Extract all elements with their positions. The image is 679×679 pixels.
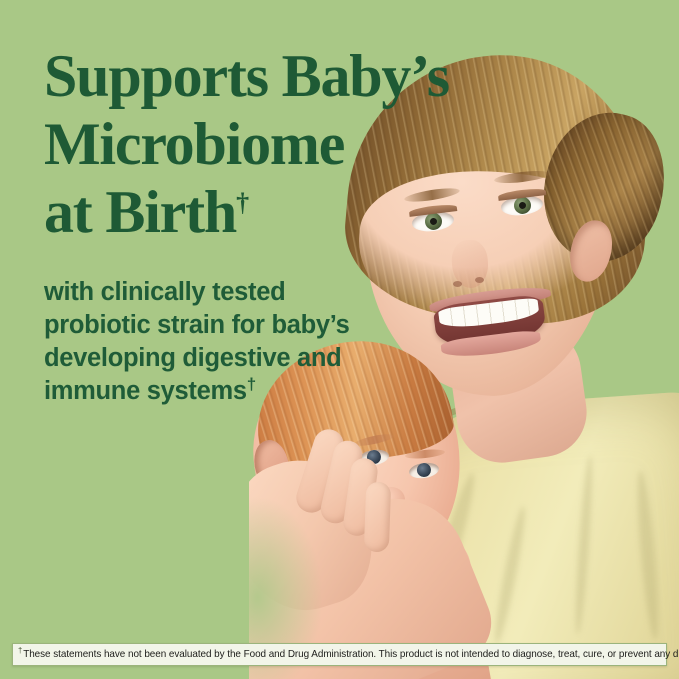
headline-line-2: Microbiome [44,111,344,177]
subheadline: with clinically tested probiotic strain … [44,276,404,408]
nostril [453,281,462,287]
headline: Supports Baby’s Microbiome at Birth† [44,42,604,246]
headline-dagger-icon: † [236,188,249,217]
subheadline-line-2: probiotic strain for baby’s [44,311,350,339]
headline-line-3: at Birth [44,179,236,245]
finger [364,482,391,553]
subheadline-line-4: immune systems [44,377,247,405]
subheadline-dagger-icon: † [247,375,256,394]
disclaimer-body: These statements have not been evaluated… [23,649,679,660]
subheadline-line-3: developing digestive and [44,344,341,372]
fda-disclaimer-text: †These statements have not been evaluate… [18,649,679,660]
iris [416,462,432,478]
subheadline-line-1: with clinically tested [44,278,285,306]
disclaimer-dagger-icon: † [18,646,22,655]
nostril [475,277,484,283]
product-claim-card: Supports Baby’s Microbiome at Birth† wit… [0,0,679,679]
headline-line-1: Supports Baby’s [44,43,449,109]
fda-disclaimer-bar: †These statements have not been evaluate… [12,643,667,666]
